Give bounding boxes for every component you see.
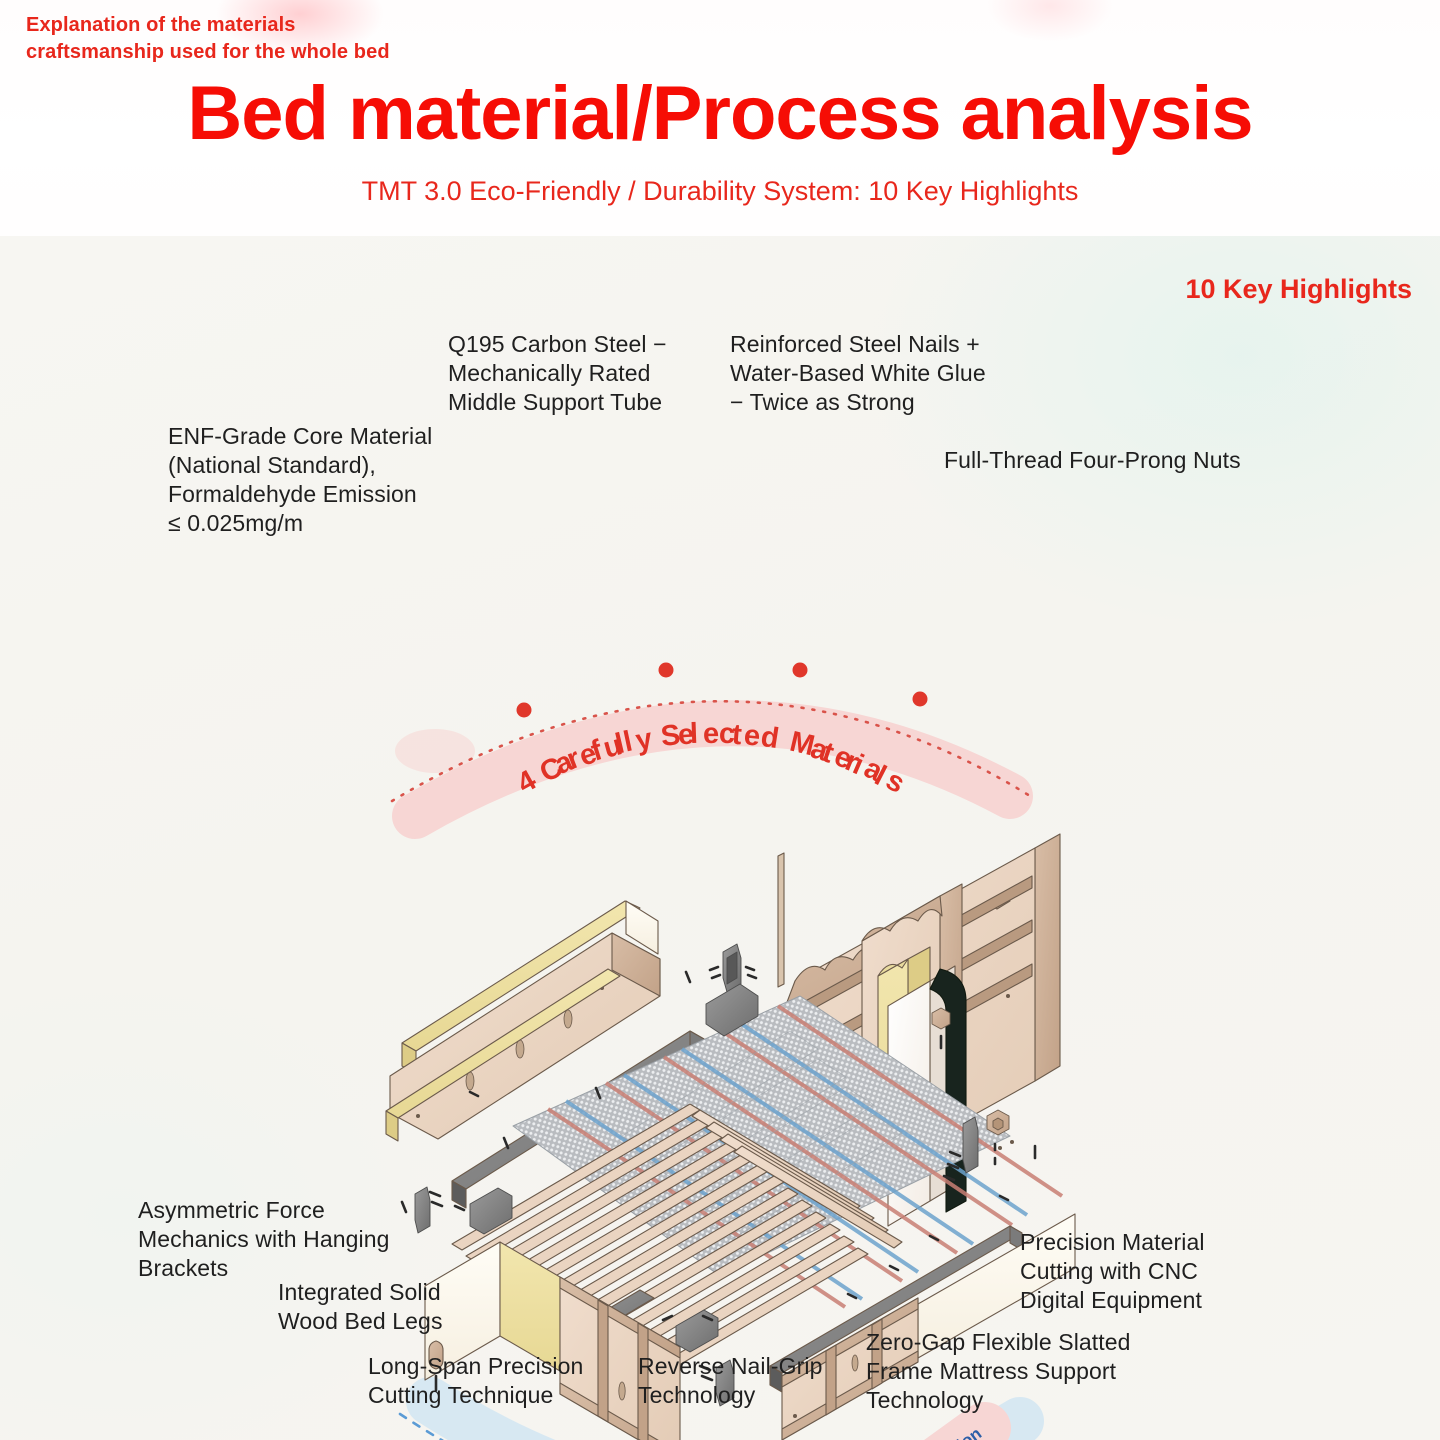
label-precision-material-cutting-cnc: Precision Material Cutting with CNC Digi… — [1020, 1228, 1270, 1315]
label-zero-gap-flexible-slatted-frame: Zero-Gap Flexible Slatted Frame Mattress… — [866, 1328, 1166, 1415]
label-full-thread-four-prong-nuts: Full-Thread Four-Prong Nuts — [944, 446, 1284, 475]
header-subtitle: TMT 3.0 Eco-Friendly / Durability System… — [0, 176, 1440, 207]
label-reinforced-steel-nails: Reinforced Steel Nails + Water-Based Whi… — [730, 330, 1022, 417]
diagram-canvas: 10 Key Highlights — [0, 236, 1440, 1440]
infographic-page: Explanation of the materials craftsmansh… — [0, 0, 1440, 1440]
label-asymmetric-force-mechanics: Asymmetric Force Mechanics with Hanging … — [138, 1196, 438, 1283]
label-q195-carbon-steel: Q195 Carbon Steel − Mechanically Rated M… — [448, 330, 698, 417]
label-long-span-precision-cutting: Long-Span Precision Cutting Technique — [368, 1352, 618, 1410]
header-kicker: Explanation of the materials craftsmansh… — [26, 12, 390, 66]
label-reverse-nail-grip-technology: Reverse Nail-Grip Technology — [638, 1352, 858, 1410]
page-title: Bed material/Process analysis — [0, 76, 1440, 152]
page-header: Explanation of the materials craftsmansh… — [0, 0, 1440, 236]
label-integrated-solid-wood-bed-legs: Integrated Solid Wood Bed Legs — [278, 1278, 538, 1336]
label-enf-grade-core-material: ENF-Grade Core Material (National Standa… — [168, 422, 478, 538]
